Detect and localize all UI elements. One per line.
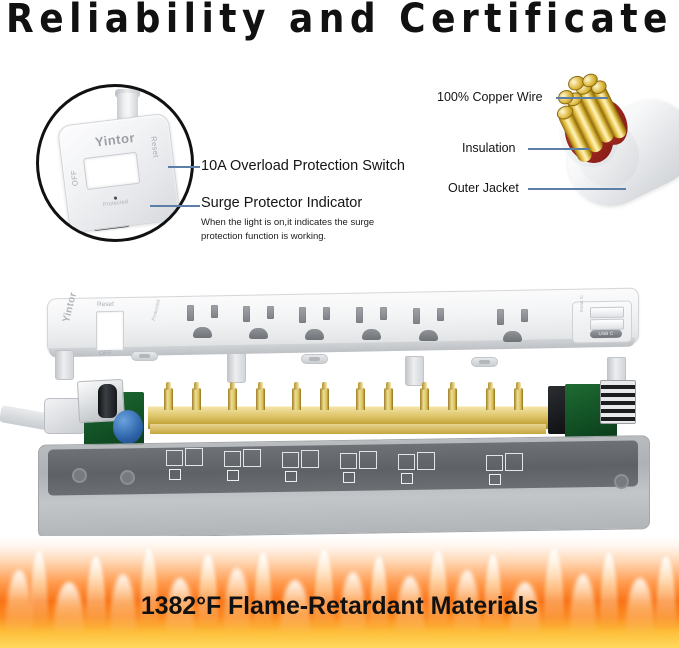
reset-label: Reset bbox=[150, 136, 162, 159]
contact-clip bbox=[292, 388, 301, 410]
contact-clip bbox=[256, 388, 265, 410]
copper-leader-line bbox=[556, 97, 608, 99]
outer-jacket-label: Outer Jacket bbox=[448, 181, 519, 195]
contact-clip bbox=[192, 388, 201, 410]
outlet-cavity bbox=[340, 451, 384, 471]
outlet-cavity bbox=[282, 450, 326, 470]
screw-post bbox=[614, 474, 629, 489]
overload-callout-label: 10A Overload Protection Switch bbox=[201, 158, 405, 174]
usb-c-label: USB C bbox=[591, 330, 621, 336]
keyhole-mount bbox=[471, 357, 498, 367]
usb-a-port[interactable] bbox=[590, 319, 624, 331]
off-label: OFF bbox=[69, 169, 80, 186]
ac-outlet[interactable] bbox=[352, 307, 398, 343]
strip-off-label: OFF bbox=[99, 350, 112, 357]
keyhole-mount bbox=[301, 354, 328, 364]
flame-banner-text: 1382°F Flame-Retardant Materials bbox=[0, 592, 679, 621]
contact-clip bbox=[356, 388, 365, 410]
surge-indicator-led bbox=[114, 196, 117, 199]
page-title: Reliability and Certificate bbox=[0, 0, 679, 42]
keyhole-mount bbox=[131, 351, 158, 361]
contact-clip bbox=[420, 388, 429, 410]
lower-housing-shell bbox=[38, 440, 648, 536]
magnifier-brand-label: Yintor bbox=[75, 128, 154, 152]
copper-wire-label: 100% Copper Wire bbox=[437, 90, 543, 104]
ac-outlet[interactable] bbox=[295, 307, 341, 343]
surge-callout-description: When the light is on,it indicates the su… bbox=[201, 216, 416, 244]
contact-clip bbox=[514, 388, 523, 410]
screw-post bbox=[120, 470, 135, 485]
contact-clip bbox=[320, 388, 329, 410]
contact-clip bbox=[164, 388, 173, 410]
screw-post bbox=[72, 468, 87, 483]
overload-leader-line bbox=[168, 166, 200, 168]
contact-clip bbox=[448, 388, 457, 410]
cable-cutaway-illustration bbox=[520, 58, 679, 208]
power-strip-assembled: Yintor Reset OFF Protected Smart IC USB … bbox=[47, 293, 637, 355]
jacket-leader-line bbox=[528, 188, 626, 190]
insulation-leader-line bbox=[528, 148, 590, 150]
usb-port-stack bbox=[600, 380, 636, 424]
outlet-cavity bbox=[398, 452, 442, 472]
strip-reset-label: Reset bbox=[97, 301, 114, 308]
ac-outlet[interactable] bbox=[239, 306, 285, 342]
mov-varistor bbox=[113, 410, 143, 444]
protected-label: Protected bbox=[88, 197, 144, 210]
magnifier-content: Yintor Reset OFF Protected bbox=[39, 87, 191, 239]
copper-busbar-lower bbox=[150, 424, 546, 434]
capacitor bbox=[98, 384, 117, 418]
contact-clip bbox=[384, 388, 393, 410]
strip-leg bbox=[55, 350, 74, 380]
flame-banner: 1382°F Flame-Retardant Materials bbox=[0, 536, 679, 648]
surge-leader-line bbox=[150, 205, 200, 207]
infographic-canvas: Reliability and Certificate Yintor Reset… bbox=[0, 0, 679, 648]
rocker-switch-window[interactable] bbox=[83, 152, 140, 190]
switch-magnifier-circle: Yintor Reset OFF Protected bbox=[36, 84, 194, 242]
ac-outlet[interactable] bbox=[493, 309, 539, 345]
usb-a-port[interactable] bbox=[590, 307, 624, 319]
surge-callout-label: Surge Protector Indicator bbox=[201, 195, 362, 211]
outlet-cavity bbox=[224, 449, 268, 469]
contact-clip bbox=[486, 388, 495, 410]
ac-outlet[interactable] bbox=[409, 308, 455, 344]
switch-module-body: Yintor Reset OFF Protected bbox=[57, 113, 181, 234]
outlet-cavity bbox=[166, 448, 210, 468]
ac-outlet[interactable] bbox=[183, 305, 229, 341]
contact-clip bbox=[228, 388, 237, 410]
usb-port-panel[interactable]: Smart IC USB C bbox=[572, 300, 632, 343]
outlet-cavity bbox=[486, 453, 530, 473]
smart-ic-label: Smart IC bbox=[579, 295, 584, 312]
strip-rocker-switch[interactable] bbox=[96, 311, 124, 352]
insulation-label: Insulation bbox=[462, 141, 516, 155]
